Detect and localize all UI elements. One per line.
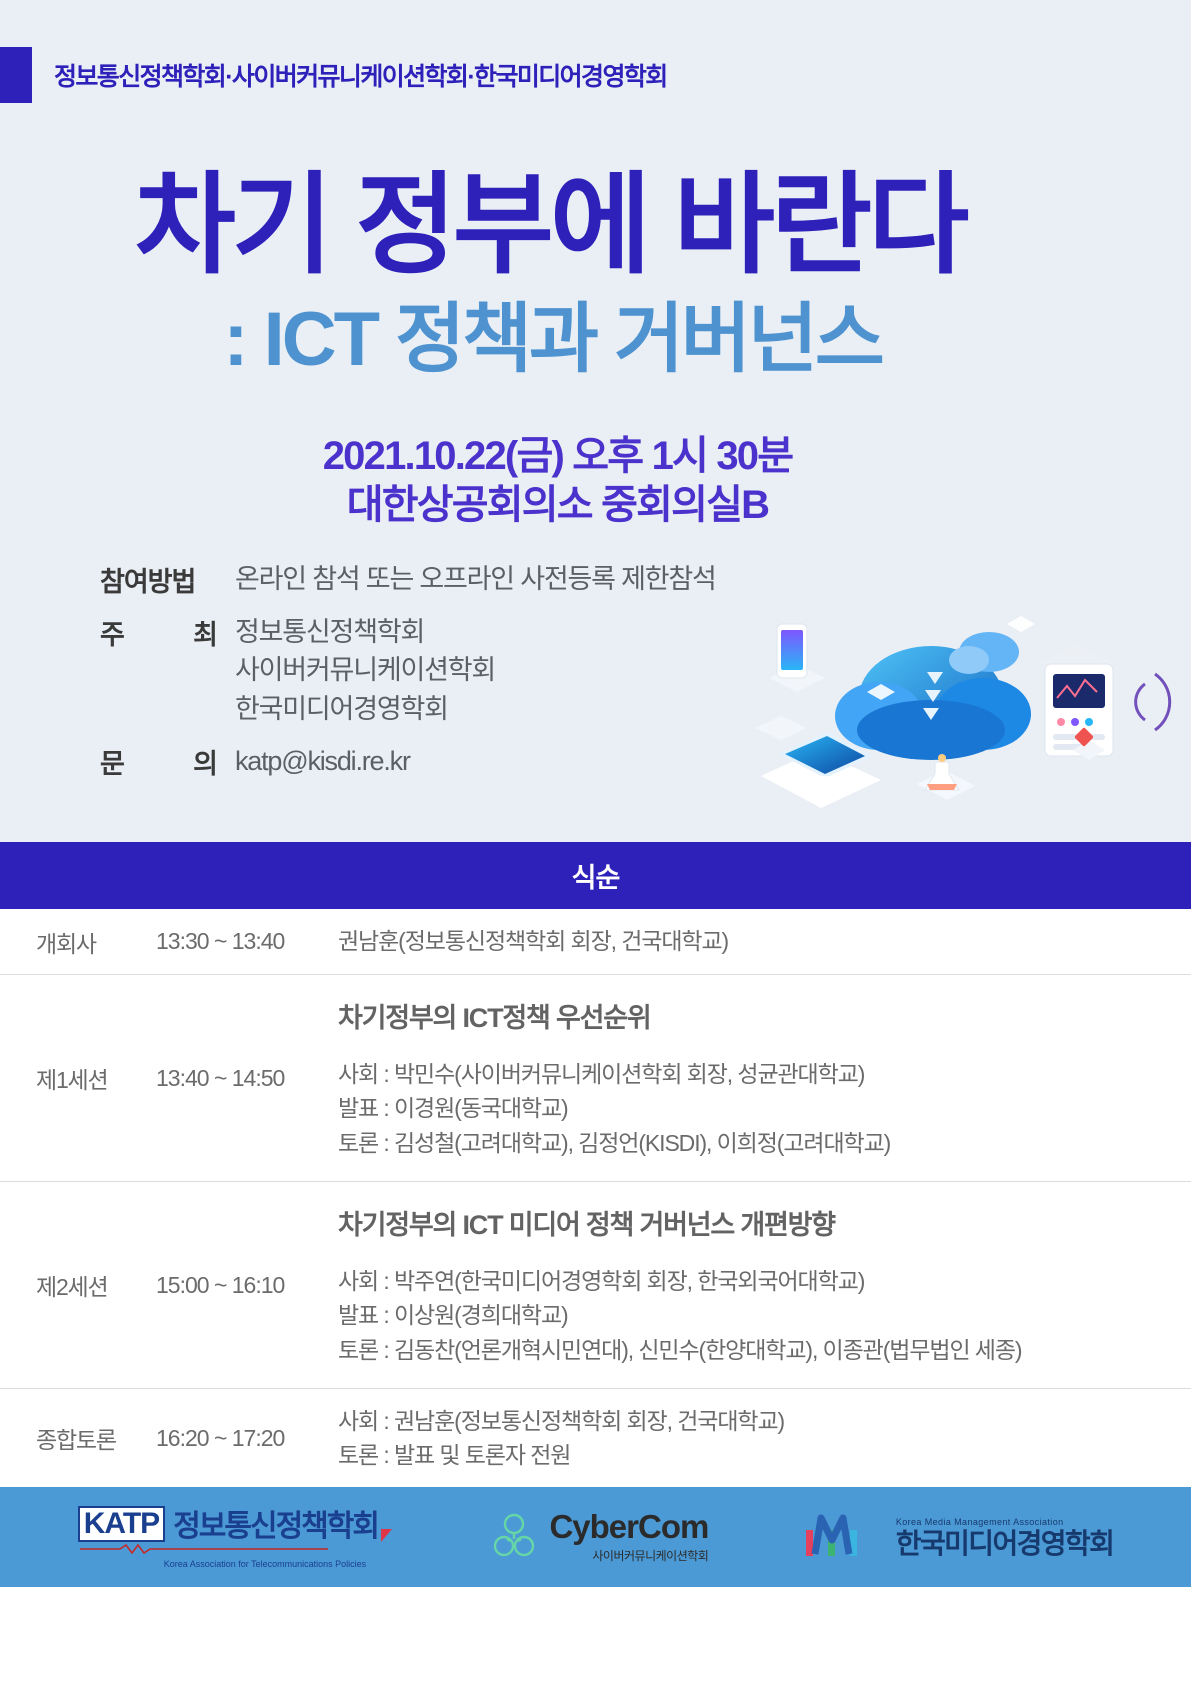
organizer-bar: 정보통신정책학회·사이버커뮤니케이션학회·한국미디어경영학회 bbox=[0, 47, 667, 103]
row-body: 권남훈(정보통신정책학회 회장, 건국대학교) bbox=[338, 924, 1191, 958]
hero-section: 정보통신정책학회·사이버커뮤니케이션학회·한국미디어경영학회 차기 정부에 바란… bbox=[0, 0, 1191, 842]
host-label-part1: 주 bbox=[100, 613, 124, 728]
row-body: 차기정부의 ICT정책 우선순위 사회 : 박민수(사이버커뮤니케이션학회 회장… bbox=[338, 996, 1191, 1159]
host-label-part2: 최 bbox=[193, 613, 217, 728]
cybercom-korean-text: 사이버커뮤니케이션학회 bbox=[549, 1547, 708, 1564]
table-row: 개회사 13:30 ~ 13:40 권남훈(정보통신정책학회 회장, 건국대학교… bbox=[0, 909, 1191, 975]
logo-kmma: Korea Media Management Association 한국미디어… bbox=[804, 1510, 1113, 1564]
row-line: 토론 : 김동찬(언론개혁시민연대), 신민수(한양대학교), 이종관(법무법인… bbox=[338, 1333, 1171, 1367]
row-time: 13:40 ~ 14:50 bbox=[156, 1065, 338, 1092]
agenda-banner-label: 식순 bbox=[572, 856, 620, 895]
row-name: 종합토론 bbox=[36, 1421, 156, 1455]
contact-email: katp@kisdi.re.kr bbox=[235, 742, 410, 780]
row-time: 15:00 ~ 16:10 bbox=[156, 1272, 338, 1299]
host-values: 정보통신정책학회 사이버커뮤니케이션학회 한국미디어경영학회 bbox=[235, 613, 495, 728]
katp-korean-text: 정보통신정책학회 bbox=[173, 1512, 378, 1542]
row-line: 발표 : 이경원(동국대학교) bbox=[338, 1091, 1171, 1125]
contact-label-part2: 의 bbox=[193, 742, 217, 781]
katp-english-text: Korea Association for Telecommunications… bbox=[164, 1559, 366, 1569]
table-row: 종합토론 16:20 ~ 17:20 사회 : 권남훈(정보통신정책학회 회장,… bbox=[0, 1389, 1191, 1487]
katp-waveform-icon bbox=[78, 1544, 328, 1554]
row-body: 차기정부의 ICT 미디어 정책 거버넌스 개편방향 사회 : 박주연(한국미디… bbox=[338, 1203, 1191, 1366]
row-time: 16:20 ~ 17:20 bbox=[156, 1425, 338, 1452]
footer-logo-bar: KATP 정보통신정책학회 Korea Association for Tele… bbox=[0, 1487, 1191, 1587]
row-line: 사회 : 박주연(한국미디어경영학회 회장, 한국외국어대학교) bbox=[338, 1264, 1171, 1298]
host-value-1: 정보통신정책학회 bbox=[235, 613, 495, 651]
agenda-banner: 식순 bbox=[0, 842, 1191, 909]
conference-poster: 정보통신정책학회·사이버커뮤니케이션학회·한국미디어경영학회 차기 정부에 바란… bbox=[0, 0, 1191, 1684]
accent-square-icon bbox=[0, 47, 32, 103]
row-time: 13:30 ~ 13:40 bbox=[156, 928, 338, 955]
page-title: 차기 정부에 바란다 bbox=[0, 168, 1100, 284]
contact-label-part1: 문 bbox=[100, 742, 124, 781]
table-row: 제2세션 15:00 ~ 16:10 차기정부의 ICT 미디어 정책 거버넌스… bbox=[0, 1182, 1191, 1389]
contact-label: 문 의 bbox=[100, 742, 235, 781]
row-body: 사회 : 권남훈(정보통신정책학회 회장, 건국대학교) 토론 : 발표 및 토… bbox=[338, 1404, 1191, 1472]
agenda-table: 개회사 13:30 ~ 13:40 권남훈(정보통신정책학회 회장, 건국대학교… bbox=[0, 909, 1191, 1487]
page-subtitle: : ICT 정책과 거버넌스 bbox=[0, 300, 1105, 380]
kmma-m-icon bbox=[804, 1510, 886, 1564]
event-datetime-block: 2021.10.22(금) 오후 1시 30분 대한상공회의소 중회의실B bbox=[0, 432, 1115, 530]
isometric-tech-illustration bbox=[721, 580, 1191, 842]
table-row: 제1세션 13:40 ~ 14:50 차기정부의 ICT정책 우선순위 사회 :… bbox=[0, 975, 1191, 1182]
participation-label: 참여방법 bbox=[100, 560, 235, 599]
logo-katp: KATP 정보통신정책학회 Korea Association for Tele… bbox=[78, 1506, 392, 1569]
host-value-2: 사이버커뮤니케이션학회 bbox=[235, 651, 495, 689]
session-title: 차기정부의 ICT 미디어 정책 거버넌스 개편방향 bbox=[338, 1203, 1171, 1242]
host-value-3: 한국미디어경영학회 bbox=[235, 690, 495, 728]
session-title: 차기정부의 ICT정책 우선순위 bbox=[338, 996, 1171, 1035]
row-name: 제2세션 bbox=[36, 1268, 156, 1302]
logo-cybercom: CyberCom 사이버커뮤니케이션학회 bbox=[487, 1510, 708, 1564]
cybercom-molecule-icon bbox=[487, 1510, 541, 1564]
row-line: 토론 : 발표 및 토론자 전원 bbox=[338, 1438, 1171, 1472]
katp-mark-text: KATP bbox=[78, 1506, 165, 1542]
event-venue: 대한상공회의소 중회의실B bbox=[0, 481, 1115, 530]
event-datetime: 2021.10.22(금) 오후 1시 30분 bbox=[323, 434, 793, 478]
organizer-list: 정보통신정책학회·사이버커뮤니케이션학회·한국미디어경영학회 bbox=[54, 57, 667, 93]
participation-text: 온라인 참석 또는 오프라인 사전등록 제한참석 bbox=[235, 560, 716, 598]
contact-value: katp@kisdi.re.kr bbox=[235, 742, 410, 781]
kmma-english-text: Korea Media Management Association bbox=[896, 1517, 1113, 1527]
host-label: 주 최 bbox=[100, 613, 235, 728]
katp-tick-icon bbox=[381, 1529, 392, 1542]
row-name: 제1세션 bbox=[36, 1061, 156, 1095]
row-line: 사회 : 박민수(사이버커뮤니케이션학회 회장, 성균관대학교) bbox=[338, 1057, 1171, 1091]
row-line: 사회 : 권남훈(정보통신정책학회 회장, 건국대학교) bbox=[338, 1404, 1171, 1438]
row-line: 발표 : 이상원(경희대학교) bbox=[338, 1298, 1171, 1332]
row-name: 개회사 bbox=[36, 925, 156, 959]
kmma-korean-text: 한국미디어경영학회 bbox=[896, 1530, 1113, 1558]
cybercom-mark-text: CyberCom bbox=[549, 1510, 708, 1543]
participation-value: 온라인 참석 또는 오프라인 사전등록 제한참석 bbox=[235, 560, 716, 599]
row-line: 권남훈(정보통신정책학회 회장, 건국대학교) bbox=[338, 924, 1171, 958]
row-line: 토론 : 김성철(고려대학교), 김정언(KISDI), 이희정(고려대학교) bbox=[338, 1126, 1171, 1160]
